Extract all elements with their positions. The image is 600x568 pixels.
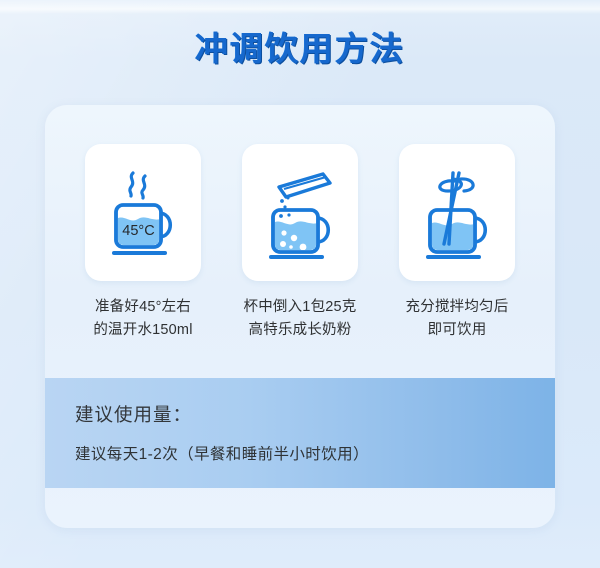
recommended-dosage-text: 建议每天1-2次（早餐和睡前半小时饮用）: [75, 442, 369, 464]
step-3: 充分搅拌均匀后 即可饮用: [399, 144, 515, 343]
step-1-caption: 准备好45°左右 的温开水150ml: [85, 296, 201, 343]
promo-instruction-page: 冲调饮用方法: [0, 0, 600, 568]
step-1-icon-tile: 45°C: [85, 144, 201, 281]
page-title-wrap: 冲调饮用方法: [0, 22, 600, 70]
step-3-caption-line-1: 充分搅拌均匀后: [399, 296, 515, 319]
step-2-caption: 杯中倒入1包25克 高特乐成长奶粉: [242, 296, 358, 343]
step-2-caption-line-1: 杯中倒入1包25克: [242, 296, 358, 319]
step-1: 45°C 准备好45°左右 的温开水150ml: [85, 144, 201, 343]
step-3-caption: 充分搅拌均匀后 即可饮用: [399, 296, 515, 343]
stir-mug-icon: [417, 165, 497, 261]
step-3-caption-line-2: 即可饮用: [399, 319, 515, 342]
step-2: 杯中倒入1包25克 高特乐成长奶粉: [242, 144, 358, 343]
step-1-caption-line-1: 准备好45°左右: [85, 296, 201, 319]
steps-row: 45°C 准备好45°左右 的温开水150ml: [85, 144, 515, 343]
step-2-caption-line-2: 高特乐成长奶粉: [242, 319, 358, 342]
mug-temperature-label: 45°C: [122, 223, 154, 239]
powder-sachet-mug-icon: [260, 165, 340, 261]
recommended-dosage-band: 建议使用量： 建议每天1-2次（早餐和睡前半小时饮用）: [45, 378, 555, 488]
hot-water-mug-icon: 45°C: [103, 167, 183, 259]
step-3-icon-tile: [399, 144, 515, 281]
page-title: 冲调饮用方法: [195, 22, 405, 70]
instruction-card: 45°C 准备好45°左右 的温开水150ml: [45, 105, 555, 528]
step-2-icon-tile: [242, 144, 358, 281]
recommended-dosage-heading: 建议使用量：: [75, 401, 192, 427]
step-1-caption-line-2: 的温开水150ml: [85, 319, 201, 342]
